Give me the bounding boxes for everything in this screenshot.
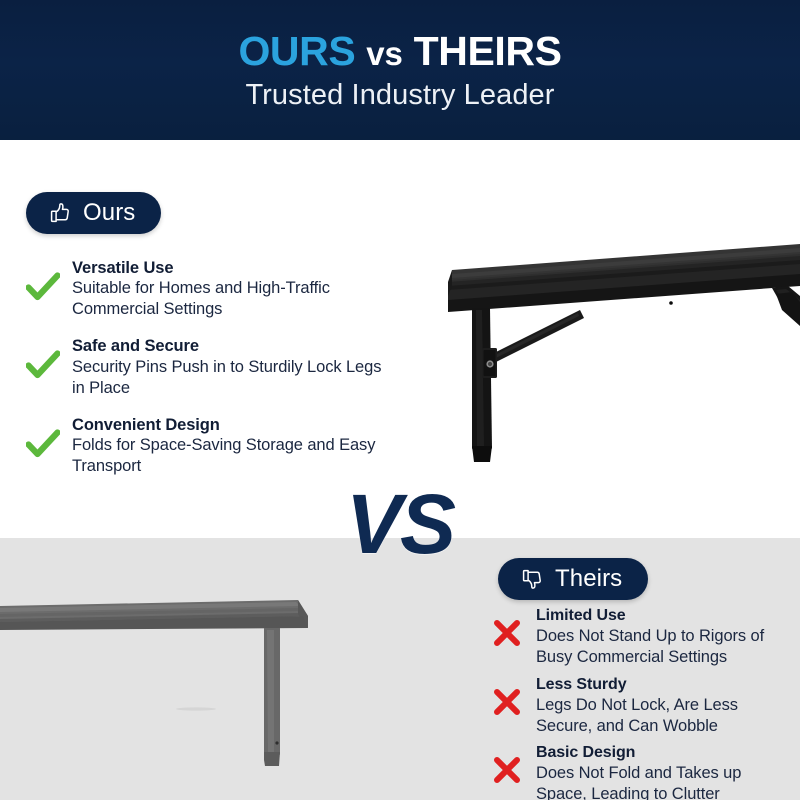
thumbs-down-icon	[518, 566, 544, 592]
ours-feature-list: Versatile Use Suitable for Homes and Hig…	[26, 258, 386, 477]
comparison-infographic: OURS vs THEIRS Trusted Industry Leader	[0, 0, 800, 800]
page-subtitle: Trusted Industry Leader	[245, 81, 554, 110]
feature-description: Legs Do Not Lock, Are Less Secure, and C…	[536, 695, 792, 737]
list-item: Versatile Use Suitable for Homes and Hig…	[26, 258, 386, 320]
feature-description: Does Not Fold and Takes up Space, Leadin…	[536, 763, 792, 800]
theirs-feature-list: Limited Use Does Not Stand Up to Rigors …	[492, 606, 792, 800]
feature-description: Security Pins Push in to Sturdily Lock L…	[72, 357, 386, 399]
feature-title: Basic Design	[536, 743, 792, 763]
list-item: Limited Use Does Not Stand Up to Rigors …	[492, 606, 792, 668]
cross-icon	[492, 687, 522, 717]
feature-description: Does Not Stand Up to Rigors of Busy Comm…	[536, 626, 792, 668]
feature-text: Less Sturdy Legs Do Not Lock, Are Less S…	[536, 675, 792, 737]
check-mark-slot	[26, 258, 72, 302]
feature-text: Limited Use Does Not Stand Up to Rigors …	[536, 606, 792, 668]
cross-mark-slot	[492, 743, 536, 785]
cross-icon	[492, 618, 522, 648]
list-item: Convenient Design Folds for Space-Saving…	[26, 415, 386, 477]
feature-text: Basic Design Does Not Fold and Takes up …	[536, 743, 792, 800]
feature-text: Safe and Secure Security Pins Push in to…	[72, 336, 386, 398]
feature-title: Limited Use	[536, 606, 792, 626]
feature-title: Safe and Secure	[72, 336, 386, 356]
check-icon	[26, 272, 60, 302]
cross-icon	[492, 755, 522, 785]
feature-title: Versatile Use	[72, 258, 386, 278]
feature-text: Versatile Use Suitable for Homes and Hig…	[72, 258, 386, 320]
feature-title: Less Sturdy	[536, 675, 792, 695]
feature-title: Convenient Design	[72, 415, 386, 435]
feature-description: Suitable for Homes and High-Traffic Comm…	[72, 278, 386, 320]
check-icon	[26, 350, 60, 380]
page-title: OURS vs THEIRS	[238, 31, 561, 72]
title-theirs-word: THEIRS	[414, 28, 562, 74]
list-item: Less Sturdy Legs Do Not Lock, Are Less S…	[492, 675, 792, 737]
cross-mark-slot	[492, 606, 536, 648]
check-mark-slot	[26, 415, 72, 459]
ours-product-image	[420, 238, 800, 488]
title-vs-word: vs	[366, 35, 402, 72]
ours-badge-label: Ours	[83, 201, 135, 225]
thumbs-up-icon	[46, 200, 72, 226]
theirs-product-image	[0, 578, 340, 800]
check-mark-slot	[26, 336, 72, 380]
title-ours-word: OURS	[238, 28, 355, 74]
feature-description: Folds for Space-Saving Storage and Easy …	[72, 435, 386, 477]
vs-divider-label: VS	[0, 482, 800, 566]
theirs-badge-label: Theirs	[555, 567, 622, 591]
header-band: OURS vs THEIRS Trusted Industry Leader	[0, 0, 800, 140]
feature-text: Convenient Design Folds for Space-Saving…	[72, 415, 386, 477]
check-icon	[26, 429, 60, 459]
cross-mark-slot	[492, 675, 536, 717]
list-item: Safe and Secure Security Pins Push in to…	[26, 336, 386, 398]
list-item: Basic Design Does Not Fold and Takes up …	[492, 743, 792, 800]
ours-badge[interactable]: Ours	[26, 192, 161, 234]
